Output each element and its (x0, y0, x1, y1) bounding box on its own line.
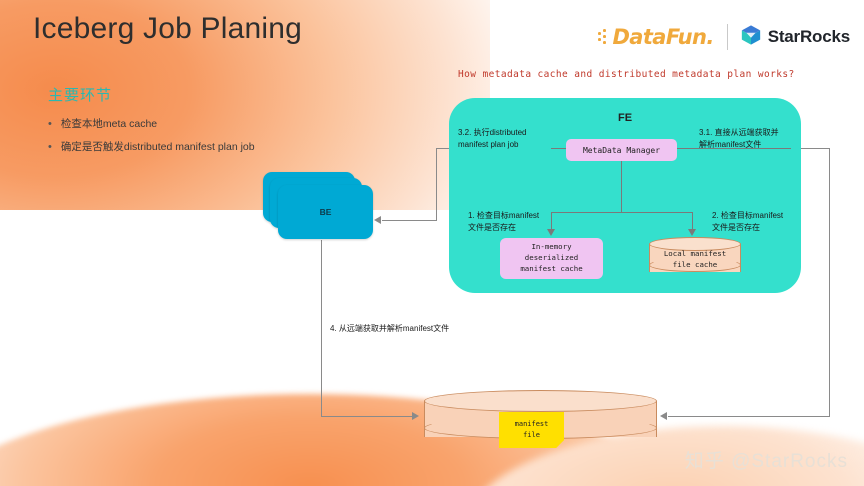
arrow-step32-into-be (374, 216, 381, 224)
connector-mdm-split (551, 212, 692, 213)
step-3-1-line-2: 解析manifest文件 (699, 139, 779, 151)
local-file-cache-label: Local manifest file cache (649, 248, 741, 270)
step-3-2-line-2: manifest plan job (458, 139, 526, 151)
section-heading: 主要环节 (48, 84, 112, 105)
local-file-cache-line-2: file cache (649, 259, 741, 270)
be-label: BE (320, 207, 332, 217)
connector-to-inmem (551, 212, 552, 230)
starrocks-wordmark: StarRocks (768, 27, 850, 47)
step-4-label: 4. 从远端获取并解析manifest文件 (330, 323, 449, 334)
step-2-label: 2. 检查目标manifest 文件是否存在 (712, 210, 783, 234)
fe-label: FE (449, 112, 801, 124)
list-item: • 检查本地meta cache (48, 118, 348, 132)
in-memory-cache-line-2: deserialized (525, 253, 578, 264)
metadata-manager-box: MetaData Manager (566, 139, 677, 161)
step-3-1-line-1: 3.1. 直接从远端获取并 (699, 127, 779, 139)
step-1-line-2: 文件是否存在 (468, 222, 539, 234)
starrocks-logo: StarRocks (740, 24, 850, 51)
connector-step32-to-be (382, 220, 437, 221)
slide-canvas: Iceberg Job Planing DataFun. StarRocks 主… (0, 0, 864, 486)
in-memory-cache-box: In-memory deserialized manifest cache (500, 238, 603, 279)
in-memory-cache-line-1: In-memory (531, 242, 571, 253)
step-1-label: 1. 检查目标manifest 文件是否存在 (468, 210, 539, 234)
watermark: 知乎 @StarRocks (685, 446, 848, 473)
logo-divider (727, 24, 728, 50)
bullet-text: 检查本地meta cache (61, 118, 157, 132)
step-3-2-label: 3.2. 执行distributed manifest plan job (458, 127, 526, 151)
manifest-file-note: manifest file (499, 412, 564, 448)
starrocks-mark-icon (740, 24, 762, 51)
diagram-heading: How metadata cache and distributed metad… (458, 69, 795, 80)
arrow-into-local-file-cache (688, 229, 696, 236)
be-node-group: BE (263, 172, 373, 240)
step-3-1-label: 3.1. 直接从远端获取并 解析manifest文件 (699, 127, 779, 151)
connector-mdm-down (621, 161, 622, 212)
cylinder-top (424, 390, 657, 412)
step-3-2-line-1: 3.2. 执行distributed (458, 127, 526, 139)
datafun-logo: DataFun. (598, 24, 713, 50)
arrow-step4-into-cylinder (412, 412, 419, 420)
arrow-step31-into-cylinder (660, 412, 667, 420)
connector-step4-horizontal (321, 416, 413, 417)
local-manifest-file-cache-cylinder: Local manifest file cache (649, 237, 741, 279)
list-item: • 确定是否触发distributed manifest plan job (48, 141, 348, 155)
manifest-note-line-1: manifest (515, 419, 549, 430)
in-memory-cache-line-3: manifest cache (520, 264, 582, 275)
connector-step32-vertical (436, 148, 437, 220)
bullet-dot-icon: • (48, 142, 52, 153)
arrow-into-inmem-cache (547, 229, 555, 236)
connector-step31-vertical (829, 148, 830, 416)
step-2-line-2: 文件是否存在 (712, 222, 783, 234)
step-2-line-1: 2. 检查目标manifest (712, 210, 783, 222)
page-title: Iceberg Job Planing (33, 12, 302, 46)
bullet-text: 确定是否触发distributed manifest plan job (61, 141, 255, 155)
step-1-line-1: 1. 检查目标manifest (468, 210, 539, 222)
local-file-cache-line-1: Local manifest (649, 248, 741, 259)
bullet-list: • 检查本地meta cache • 确定是否触发distributed man… (48, 118, 348, 163)
connector-to-localcache (692, 212, 693, 230)
manifest-note-line-2: file (523, 430, 540, 441)
be-card-front: BE (278, 185, 373, 239)
connector-step4-vertical (321, 240, 322, 416)
datafun-wordmark: DataFun. (612, 27, 713, 48)
logo-group: DataFun. StarRocks (598, 22, 850, 52)
connector-step31-bottom (668, 416, 830, 417)
datafun-dots-icon (598, 29, 611, 45)
bullet-dot-icon: • (48, 119, 52, 130)
